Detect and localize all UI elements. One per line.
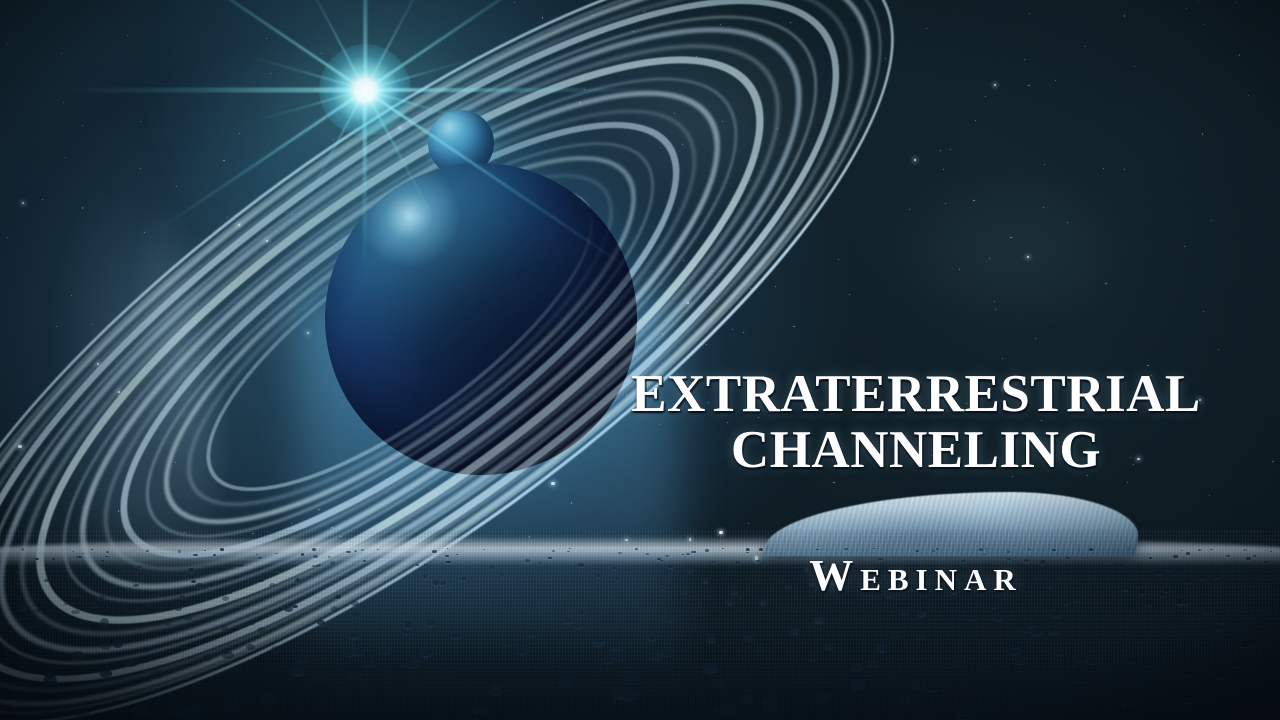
title-line-2: CHANNELING (560, 422, 1272, 478)
vignette-overlay (0, 0, 1280, 720)
subtitle: Webinar (560, 552, 1272, 600)
title-line-1: EXTRATERRESTRIAL (560, 366, 1272, 422)
poster-canvas: EXTRATERRESTRIAL CHANNELING Webinar (0, 0, 1280, 720)
page-title: EXTRATERRESTRIAL CHANNELING (560, 366, 1272, 478)
